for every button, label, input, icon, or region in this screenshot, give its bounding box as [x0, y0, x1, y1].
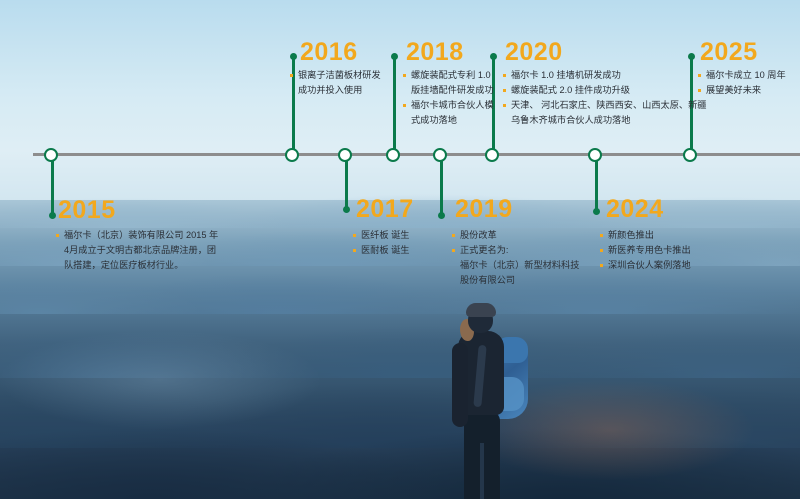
timeline-stem-2019 — [440, 154, 443, 216]
timeline-year-2024: 2024 — [606, 197, 664, 222]
timeline-bullet-2018-1: 螺旋装配式专利 1.0 — [403, 68, 494, 83]
timeline-stem-2018 — [393, 56, 396, 154]
timeline-bullet-2024-2: 新医养专用色卡推出 — [600, 243, 691, 258]
timeline-bullet-2018-2: 版挂墙配件研发成功 — [403, 83, 494, 98]
timeline-bullet-2018-4: 式成功落地 — [403, 113, 494, 128]
timeline-bullet-2019-1: 股份改革 — [452, 228, 579, 243]
timeline-bullet-2019-3: 福尔卡（北京）新型材料科技 — [452, 258, 579, 273]
hiker-cap — [466, 303, 496, 317]
timeline-bullet-2024-1: 新颜色推出 — [600, 228, 691, 243]
timeline-bullet-2019-2: 正式更名为: — [452, 243, 579, 258]
timeline-bullet-2020-1: 福尔卡 1.0 挂墙机研发成功 — [503, 68, 707, 83]
timeline-entry-2015: 福尔卡（北京）装饰有限公司 2015 年4月成立于文明古都北京品牌注册，团队搭建… — [56, 228, 218, 273]
timeline-bullet-2020-2: 螺旋装配式 2.0 挂件成功升级 — [503, 83, 707, 98]
timeline-marker-2025[interactable] — [683, 148, 697, 162]
timeline-stem-endpoint-2019 — [438, 212, 445, 219]
timeline-stem-endpoint-2024 — [593, 208, 600, 215]
timeline-stem-2024 — [595, 154, 598, 212]
timeline-entry-2017: 医纤板 诞生医耐板 诞生 — [353, 228, 410, 258]
timeline-year-2016: 2016 — [300, 40, 358, 65]
timeline-bullet-2015-1: 福尔卡（北京）装饰有限公司 2015 年 — [56, 228, 218, 243]
timeline-bullet-2016-1: 银离子洁菌板材研发 — [290, 68, 381, 83]
timeline-entry-2024: 新颜色推出新医养专用色卡推出深圳合伙人案例落地 — [600, 228, 691, 273]
timeline-year-2015: 2015 — [58, 198, 116, 223]
timeline-stem-endpoint-2020 — [490, 53, 497, 60]
timeline-bullet-2018-3: 福尔卡城市合伙人模 — [403, 98, 494, 113]
timeline-stem-endpoint-2018 — [391, 53, 398, 60]
hiker-leg-gap — [480, 443, 484, 499]
timeline-marker-2017[interactable] — [338, 148, 352, 162]
timeline-stem-endpoint-2025 — [688, 53, 695, 60]
timeline-bullet-2016-2: 成功并投入使用 — [290, 83, 381, 98]
timeline-marker-2019[interactable] — [433, 148, 447, 162]
timeline-stem-endpoint-2016 — [290, 53, 297, 60]
timeline-entry-2019: 股份改革正式更名为:福尔卡（北京）新型材料科技股份有限公司 — [452, 228, 579, 288]
timeline-entry-2020: 福尔卡 1.0 挂墙机研发成功螺旋装配式 2.0 挂件成功升级天津、 河北石家庄… — [503, 68, 707, 128]
timeline-marker-2024[interactable] — [588, 148, 602, 162]
timeline-stem-endpoint-2017 — [343, 206, 350, 213]
timeline-marker-2020[interactable] — [485, 148, 499, 162]
timeline-bullet-2025-2: 展望美好未来 — [698, 83, 786, 98]
timeline-stem-2015 — [51, 154, 54, 216]
timeline-bullet-2025-1: 福尔卡成立 10 周年 — [698, 68, 786, 83]
timeline-bullet-2015-3: 队搭建，定位医疗板材行业。 — [56, 258, 218, 273]
timeline-bullet-2019-4: 股份有限公司 — [452, 273, 579, 288]
timeline-stem-endpoint-2015 — [49, 212, 56, 219]
timeline-marker-2016[interactable] — [285, 148, 299, 162]
timeline-year-2025: 2025 — [700, 40, 758, 65]
timeline-bullet-2017-2: 医耐板 诞生 — [353, 243, 410, 258]
timeline-year-2020: 2020 — [505, 40, 563, 65]
timeline-bullet-2015-2: 4月成立于文明古都北京品牌注册，团 — [56, 243, 218, 258]
timeline-infographic: 2015福尔卡（北京）装饰有限公司 2015 年4月成立于文明古都北京品牌注册，… — [0, 0, 800, 499]
timeline-bullet-2020-3: 天津、 河北石家庄、陕西西安、山西太原、新疆 — [503, 98, 707, 113]
timeline-marker-2018[interactable] — [386, 148, 400, 162]
timeline-stem-2017 — [345, 154, 348, 210]
timeline-marker-2015[interactable] — [44, 148, 58, 162]
hiker-figure — [440, 303, 560, 499]
timeline-entry-2016: 银离子洁菌板材研发成功并投入使用 — [290, 68, 381, 98]
timeline-year-2017: 2017 — [356, 197, 414, 222]
timeline-year-2018: 2018 — [406, 40, 464, 65]
timeline-entry-2025: 福尔卡成立 10 周年展望美好未来 — [698, 68, 786, 98]
timeline-bullet-2024-3: 深圳合伙人案例落地 — [600, 258, 691, 273]
timeline-year-2019: 2019 — [455, 197, 513, 222]
valley-haze — [0, 300, 420, 450]
timeline-bullet-2020-4: 乌鲁木齐城市合伙人成功落地 — [503, 113, 707, 128]
timeline-bullet-2017-1: 医纤板 诞生 — [353, 228, 410, 243]
hiker-arm — [452, 343, 468, 427]
timeline-entry-2018: 螺旋装配式专利 1.0版挂墙配件研发成功福尔卡城市合伙人模式成功落地 — [403, 68, 494, 128]
